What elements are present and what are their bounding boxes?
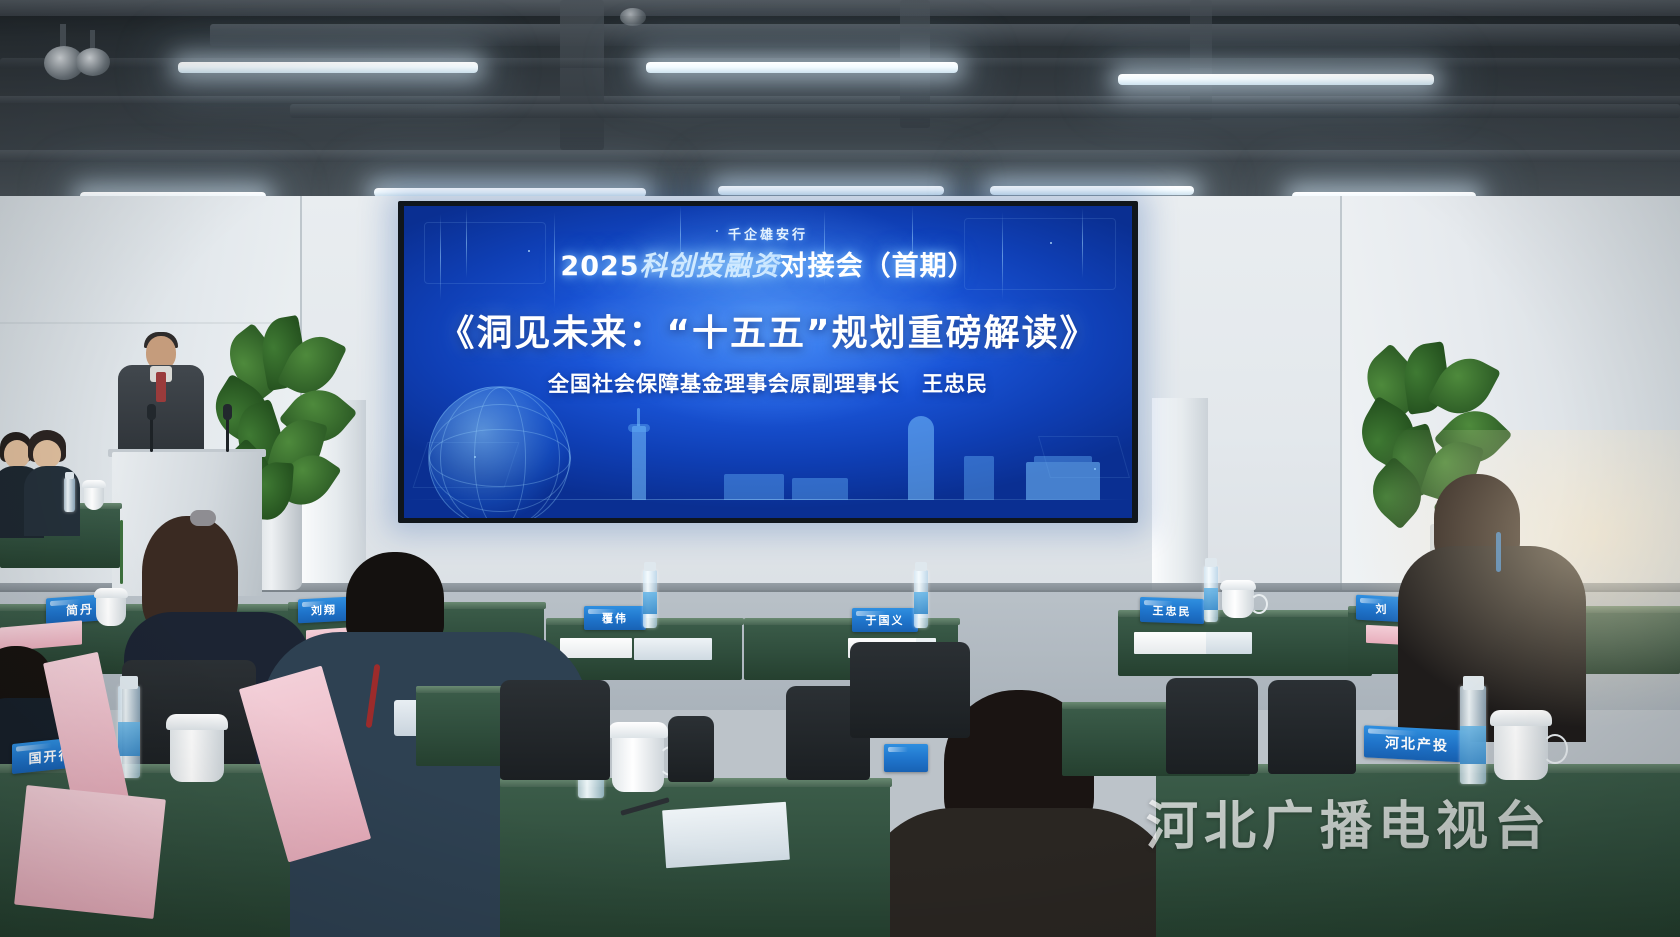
microphone-head	[223, 404, 232, 420]
microphone-stem	[150, 418, 153, 452]
microphone-head	[147, 404, 156, 420]
booklet[interactable]	[634, 638, 712, 660]
booklet[interactable]	[662, 802, 790, 869]
screen-event-tail: 对接会（首期）	[780, 251, 976, 282]
wall-column	[1152, 398, 1208, 596]
name-plate-label: 于国义	[866, 612, 905, 628]
ceiling-light	[178, 62, 478, 73]
ceiling-light	[646, 62, 958, 73]
screen-event-line: 2025科创投融资对接会（首期）	[404, 244, 1132, 283]
podium-cable	[120, 520, 123, 584]
name-plate[interactable]: 于国义	[852, 608, 918, 632]
chair	[500, 680, 610, 780]
skyline-tower	[632, 426, 646, 500]
ceiling-light	[1118, 74, 1434, 85]
name-plate[interactable]	[884, 744, 928, 772]
document-paper[interactable]	[1134, 632, 1210, 654]
skyline-building	[1026, 462, 1100, 500]
document-paper[interactable]	[560, 638, 632, 658]
microphone-stem	[226, 418, 229, 452]
water-bottle	[64, 478, 75, 512]
tea-cup	[1494, 722, 1548, 780]
skyline-tower	[908, 416, 934, 500]
ceiling-light	[718, 186, 944, 195]
chair	[850, 642, 970, 738]
conference-scene: 千企雄安行 2025科创投融资对接会（首期） 《洞见未来：“十五五”规划重磅解读…	[0, 0, 1680, 937]
name-plate[interactable]: 河北产投	[1364, 725, 1470, 763]
name-plate-label: 刘翔	[311, 601, 337, 618]
name-plate[interactable]: 覆伟	[584, 606, 646, 630]
name-plate-label: 王忠民	[1153, 602, 1192, 619]
chair	[1166, 678, 1258, 774]
speaker-tie	[156, 372, 166, 402]
chair	[1268, 680, 1356, 774]
screen-event-year: 2025	[560, 251, 639, 282]
skyline-building	[724, 474, 784, 500]
screen-speaker-line: 全国社会保障基金理事会原副理事长 王忠民	[404, 368, 1132, 398]
name-plate-label: 简丹	[66, 600, 94, 619]
spotlight	[620, 8, 646, 26]
booklet[interactable]	[1206, 632, 1252, 654]
screen-main-title: 《洞见未来：“十五五”规划重磅解读》	[404, 304, 1132, 356]
chair	[668, 716, 714, 782]
ceiling-light	[990, 186, 1194, 195]
tea-cup	[84, 486, 104, 510]
tea-cup	[170, 726, 224, 782]
name-plate[interactable]: 刘翔	[298, 597, 350, 624]
screen-kicker: 千企雄安行	[404, 224, 1132, 243]
lanyard	[1496, 532, 1501, 572]
document-sheet[interactable]	[14, 785, 166, 919]
name-plate[interactable]: 王忠民	[1140, 597, 1204, 624]
name-plate-label: 河北产投	[1385, 732, 1449, 755]
tea-cup	[96, 596, 126, 626]
name-plate-label: 覆伟	[602, 610, 628, 626]
led-screen[interactable]: 千企雄安行 2025科创投融资对接会（首期） 《洞见未来：“十五五”规划重磅解读…	[404, 206, 1132, 518]
broadcaster-watermark: 河北广播电视台	[1146, 784, 1552, 859]
tea-cup	[612, 734, 664, 792]
screen-event-highlight: 科创投融资	[640, 251, 780, 282]
name-plate-label: 刘	[1376, 600, 1389, 617]
ceiling	[0, 0, 1680, 210]
spotlight	[76, 48, 110, 76]
